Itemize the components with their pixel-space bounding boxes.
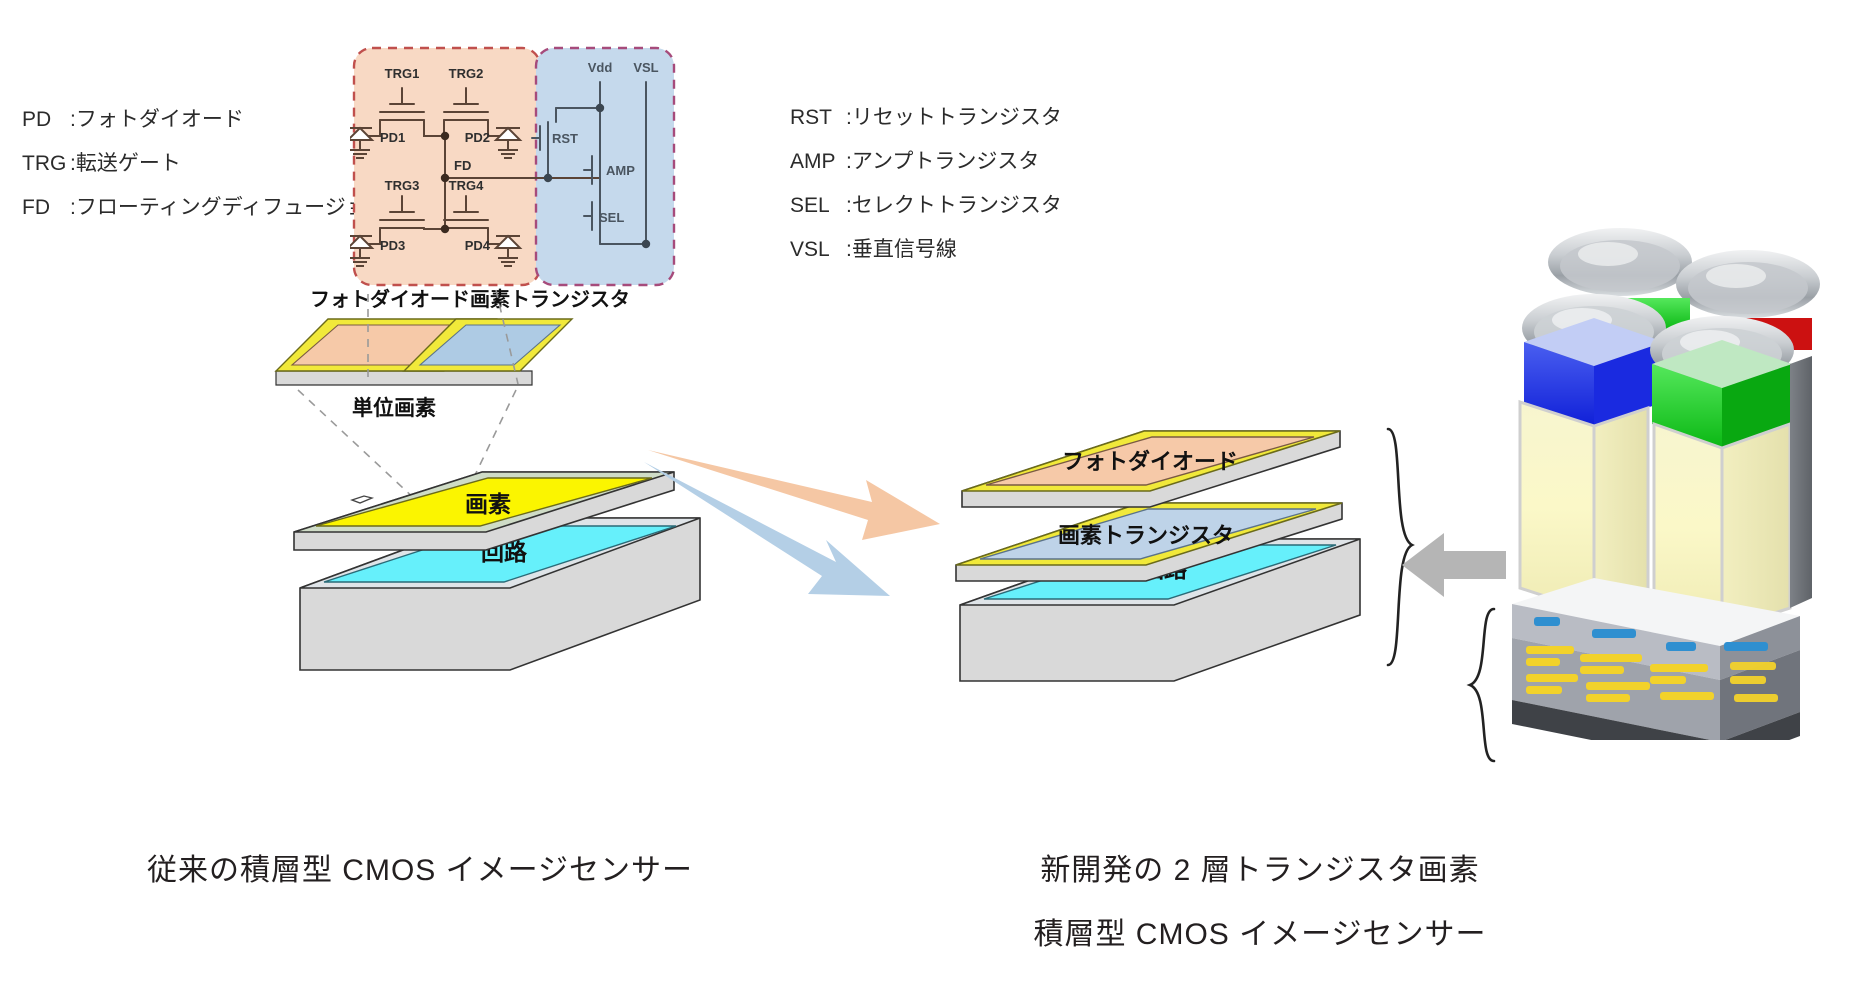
photodiode-column-right-side	[1722, 424, 1790, 630]
legend-key: FD	[22, 186, 70, 230]
legend-text: 垂直信号線	[852, 238, 957, 261]
unit-pixel-base	[276, 371, 532, 385]
stacked-pixel-3d-render	[1490, 180, 1820, 740]
label-pd4: PD4	[465, 238, 491, 253]
caption-right-line2: 積層型 CMOS イメージセンサー	[960, 909, 1560, 953]
legend-text: フォトダイオード	[76, 108, 244, 131]
legend-right-item: VSL:垂直信号線	[790, 228, 1062, 272]
unit-pixel-marker	[352, 496, 372, 503]
caption-left: 従来の積層型 CMOS イメージセンサー	[120, 845, 720, 889]
label-vdd: Vdd	[588, 60, 613, 75]
legend-text: セレクトトランジスタ	[852, 194, 1062, 217]
label-trg2: TRG2	[449, 66, 484, 81]
label-sel: SEL	[599, 210, 624, 225]
legend-left-item: FD:フローティングディフュージョン	[22, 186, 388, 230]
legend-right-item: AMP:アンプトランジスタ	[790, 140, 1062, 184]
microlens-back-left	[1548, 228, 1692, 296]
label-pd1: PD1	[380, 130, 405, 145]
legend-key: PD	[22, 98, 70, 142]
label-pd3: PD3	[380, 238, 405, 253]
legend-text: フローティングディフュージョン	[76, 196, 388, 219]
legend-text: アンプトランジスタ	[852, 150, 1040, 173]
conventional-stack: 回路 画素	[290, 470, 710, 690]
photodiode-column-far-side	[1790, 356, 1812, 608]
legend-right-item: RST:リセットトランジスタ	[790, 96, 1062, 140]
microlens-back-right	[1676, 250, 1820, 318]
stack-layer-pixel-label: 画素	[465, 491, 511, 517]
legend-text: リセットトランジスタ	[852, 106, 1062, 129]
legend-left-item: PD:フォトダイオード	[22, 98, 388, 142]
legend-text: 転送ゲート	[76, 152, 181, 175]
legend-key: SEL	[790, 184, 846, 228]
circuit-schematic: TRG1 TRG2 TRG3 TRG4 PD1 PD2 PD3 PD4 FD V…	[350, 44, 690, 289]
label-fd: FD	[454, 158, 471, 173]
caption-right: 新開発の 2 層トランジスタ画素 積層型 CMOS イメージセンサー	[960, 845, 1560, 953]
legend-key: AMP	[790, 140, 846, 184]
caption-right-line1: 新開発の 2 層トランジスタ画素	[960, 845, 1560, 889]
photodiode-column-left-front	[1520, 402, 1594, 612]
legend-key: VSL	[790, 228, 846, 272]
label-trg3: TRG3	[385, 178, 420, 193]
label-amp: AMP	[606, 163, 635, 178]
legend-left-item: TRG:転送ゲート	[22, 142, 388, 186]
legend-right: RST:リセットトランジスタ AMP:アンプトランジスタ SEL:セレクトトラン…	[790, 96, 1062, 272]
label-pd2: PD2	[465, 130, 490, 145]
label-unit-pixel: 単位画素	[352, 392, 436, 422]
stack-layer-photodiode: フォトダイオード	[962, 431, 1340, 507]
stack-layer-pixel-transistor-label: 画素トランジスタ	[1058, 523, 1234, 548]
legend-key: RST	[790, 96, 846, 140]
unit-pixel-slab	[260, 305, 580, 395]
label-vsl: VSL	[633, 60, 658, 75]
pixel-transistor-group-region	[536, 48, 674, 285]
label-trg4: TRG4	[449, 178, 484, 193]
label-unit-pixel-text: 単位画素	[352, 397, 436, 420]
stack-layer-photodiode-label: フォトダイオード	[1062, 449, 1238, 474]
legend-key: TRG	[22, 142, 70, 186]
caption-left-text: 従来の積層型 CMOS イメージセンサー	[147, 854, 693, 887]
label-trg1: TRG1	[385, 66, 420, 81]
two-layer-stack: 回路 画素トランジスタ フォトダイオード	[950, 425, 1390, 685]
legend-right-item: SEL:セレクトトランジスタ	[790, 184, 1062, 228]
legend-left: PD:フォトダイオード TRG:転送ゲート FD:フローティングディフュージョン	[22, 98, 388, 230]
label-rst: RST	[552, 131, 578, 146]
